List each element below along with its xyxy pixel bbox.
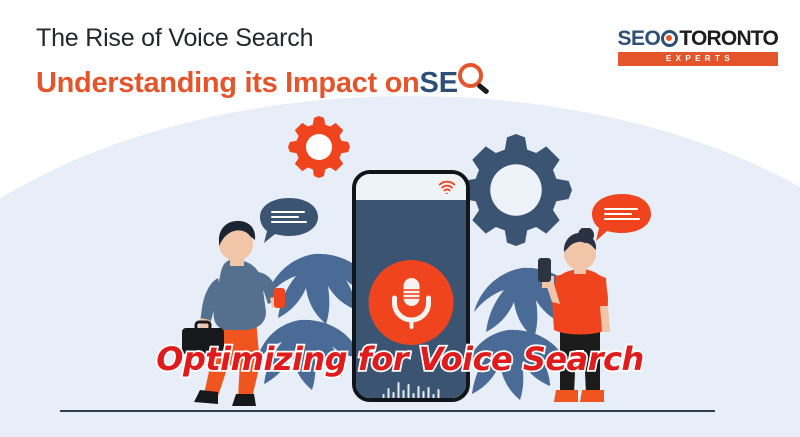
- speech-bubble-blue: [258, 197, 320, 244]
- poster-canvas: The Rise of Voice Search Understanding i…: [0, 0, 800, 437]
- logo-seo-text: SEO: [618, 28, 661, 49]
- logo-wordmark: SEO TORONTO: [618, 28, 779, 49]
- banner-title: Optimizing for Voice Search: [0, 340, 800, 378]
- person-woman-with-phone: [528, 228, 628, 412]
- person-man-with-briefcase: [178, 216, 298, 412]
- ground-line: [60, 410, 715, 412]
- magnifier-o-icon: [458, 62, 488, 92]
- headline-block: The Rise of Voice Search Understanding i…: [36, 24, 488, 100]
- headline-line-2: Understanding its Impact on SE: [36, 62, 488, 100]
- logo-experts-bar: EXPERTS: [618, 52, 779, 66]
- man-figure: [182, 221, 285, 406]
- wifi-icon: [438, 179, 456, 194]
- speech-bubble-orange: [589, 193, 653, 242]
- microphone-icon: [389, 277, 433, 329]
- phone-status-bar: [356, 174, 466, 200]
- headline-line-1: The Rise of Voice Search: [36, 24, 488, 53]
- brand-logo[interactable]: SEO TORONTO EXPERTS: [618, 28, 779, 66]
- gear-orange-icon: [288, 116, 350, 178]
- voice-search-button[interactable]: [369, 260, 454, 345]
- headline-line-2-prefix: Understanding its Impact on: [36, 67, 419, 100]
- logo-toronto-text: TORONTO: [679, 28, 778, 49]
- audio-equalizer: [383, 378, 440, 400]
- background-bottom-band: [0, 414, 800, 437]
- seo-letters-se: SE: [419, 67, 458, 100]
- logo-o-target-icon: [661, 30, 678, 47]
